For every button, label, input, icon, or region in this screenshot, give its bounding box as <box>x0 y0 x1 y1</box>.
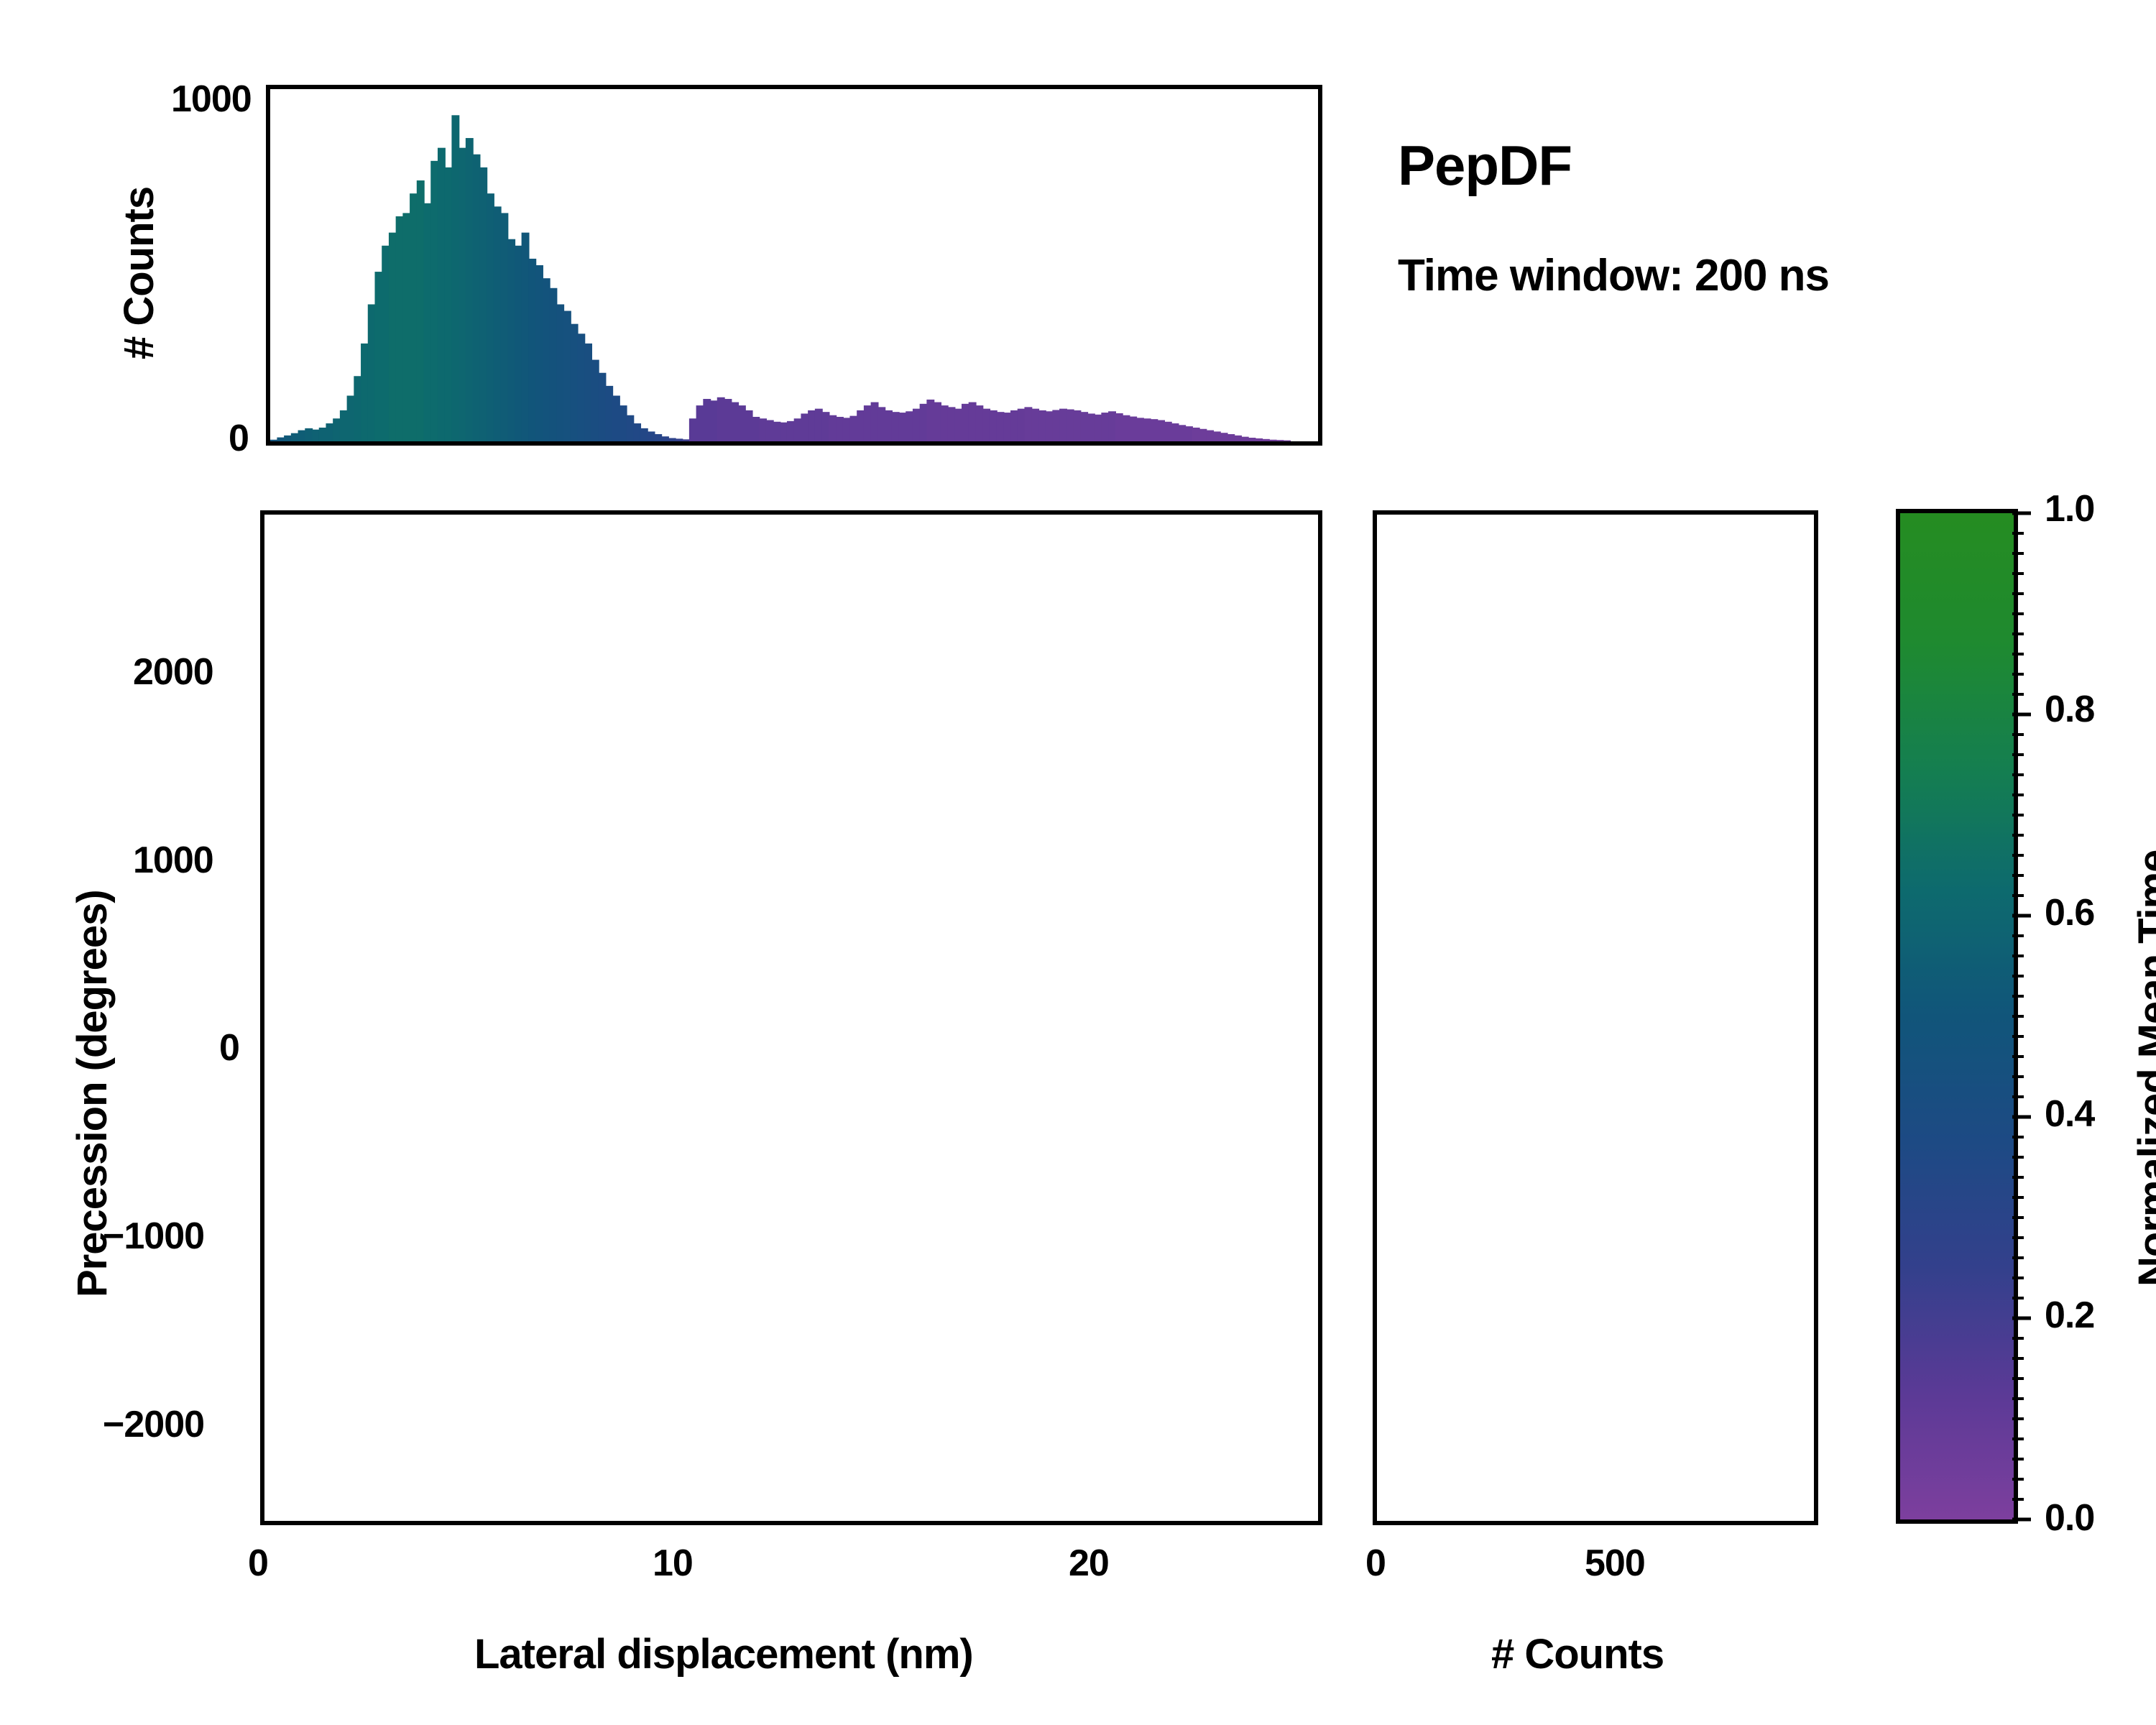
right-xtick-500: 500 <box>1585 1542 1645 1585</box>
cbar-tick-0-8: 0.8 <box>2045 688 2094 731</box>
cbar-tick-0-2: 0.2 <box>2045 1294 2094 1337</box>
cbar-tick-0-4: 0.4 <box>2045 1092 2094 1136</box>
figure-title: PepDF <box>1398 133 1572 198</box>
main-ytick-neg1000: −1000 <box>103 1215 204 1258</box>
main-xtick-10: 10 <box>653 1542 693 1585</box>
top-ytick-1000: 1000 <box>171 78 252 121</box>
figure-canvas: 1000 0 # Counts PepDF Time window: 200 n… <box>0 0 2156 1725</box>
colorbar-label: Normalized Mean Time <box>2129 850 2156 1287</box>
right-marginal-histogram-panel <box>1373 510 1818 1525</box>
top-ylabel: # Counts <box>115 187 163 359</box>
colorbar <box>1896 509 2018 1524</box>
main-ytick-neg2000: −2000 <box>103 1403 204 1446</box>
colorbar-gradient <box>1900 513 2014 1519</box>
right-xtick-0: 0 <box>1365 1542 1386 1585</box>
cbar-tick-0-0: 0.0 <box>2045 1496 2094 1540</box>
main-xlabel: Lateral displacement (nm) <box>474 1630 973 1678</box>
right-histogram-plot <box>1377 515 1814 1521</box>
main-2d-histogram-panel <box>260 510 1322 1525</box>
main-ytick-2000: 2000 <box>133 650 213 694</box>
cbar-tick-0-6: 0.6 <box>2045 891 2094 934</box>
figure-subtitle: Time window: 200 ns <box>1398 250 1829 301</box>
main-xtick-0: 0 <box>248 1542 268 1585</box>
main-ytick-1000: 1000 <box>133 839 213 882</box>
top-ytick-0: 0 <box>229 417 249 460</box>
colorbar-ticks <box>2012 509 2041 1524</box>
top-marginal-histogram-panel <box>266 85 1322 446</box>
main-heatmap-plot <box>264 515 1318 1521</box>
right-xlabel: # Counts <box>1491 1630 1664 1678</box>
main-ylabel: Precession (degrees) <box>68 890 116 1297</box>
main-xtick-20: 20 <box>1069 1542 1109 1585</box>
cbar-tick-1-0: 1.0 <box>2045 487 2094 530</box>
main-ytick-0: 0 <box>219 1026 239 1069</box>
top-histogram-plot <box>270 89 1318 441</box>
